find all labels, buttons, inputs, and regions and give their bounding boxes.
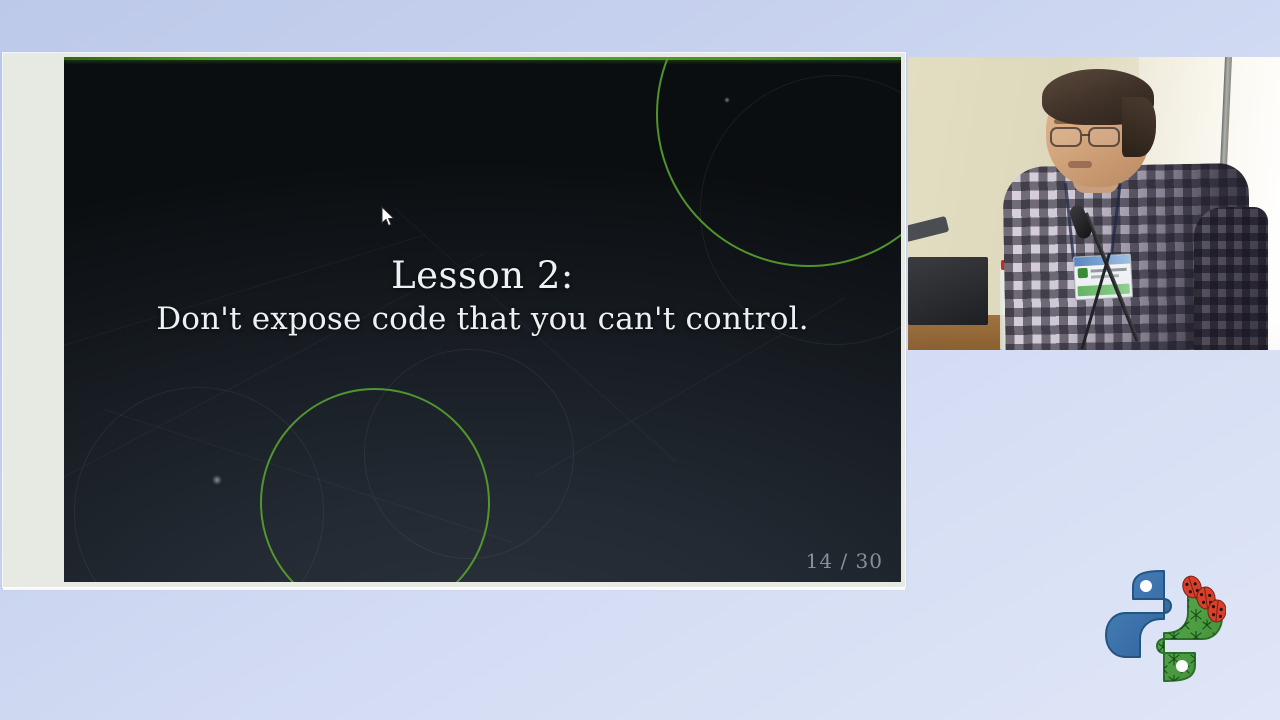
slide-subtitle: Don't expose code that you can't control… <box>64 302 901 338</box>
slide-page-counter: 14 / 30 <box>806 549 883 573</box>
mouse-pointer-cursor <box>381 206 395 227</box>
slide-title: Lesson 2: <box>64 255 901 296</box>
slide-text-block: Lesson 2: Don't expose code that you can… <box>64 255 901 338</box>
faint-circle-lower-left <box>74 387 324 582</box>
python-cactus-logo <box>1102 565 1226 687</box>
speaker-video-feed[interactable] <box>908 57 1280 350</box>
faint-circle-mid <box>364 349 574 559</box>
slide-stage[interactable]: Lesson 2: Don't expose code that you can… <box>64 57 901 582</box>
video-vignette-overlay <box>908 57 1280 350</box>
slide-panel[interactable]: Lesson 2: Don't expose code that you can… <box>3 53 905 587</box>
